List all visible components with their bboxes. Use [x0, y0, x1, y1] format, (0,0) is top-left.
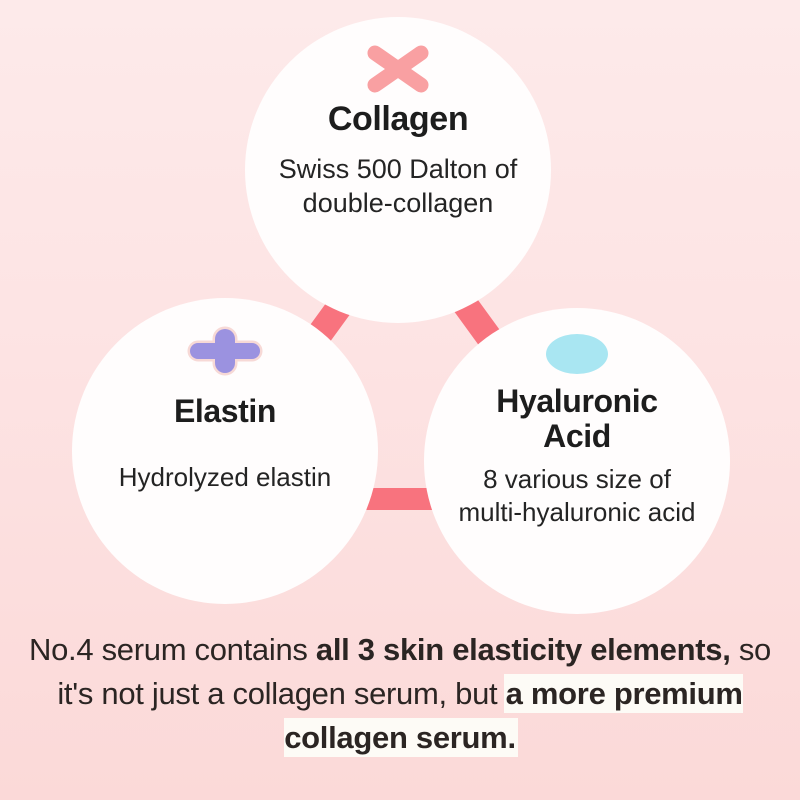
card-title-hyaluronic-acid: Hyaluronic Acid — [462, 384, 692, 453]
connector-elastin-hyaluronic — [366, 488, 436, 510]
card-description-hyaluronic-acid: 8 various size of multi-hyaluronic acid — [457, 463, 697, 529]
card-hyaluronic-acid: Hyaluronic Acid 8 various size of multi-… — [424, 308, 730, 614]
card-title-collagen: Collagen — [328, 101, 468, 138]
card-title-elastin: Elastin — [174, 394, 276, 429]
blue-ellipse-icon — [545, 330, 609, 378]
caption-part-1: No.4 serum contains — [29, 632, 316, 667]
card-collagen: Collagen Swiss 500 Dalton of double-coll… — [245, 17, 551, 323]
plus-capsule-icon — [182, 326, 268, 376]
card-description-collagen: Swiss 500 Dalton of double-collagen — [263, 152, 533, 220]
caption-bold-1: all 3 skin elasticity elements, — [316, 632, 731, 667]
card-description-elastin: Hydrolyzed elastin — [119, 461, 331, 494]
ingredient-infographic: Elastin Hydrolyzed elastin Hyaluronic Ac… — [0, 0, 800, 800]
caption-text: No.4 serum contains all 3 skin elasticit… — [0, 628, 800, 760]
card-elastin: Elastin Hydrolyzed elastin — [72, 298, 378, 604]
x-cross-icon — [365, 43, 431, 95]
